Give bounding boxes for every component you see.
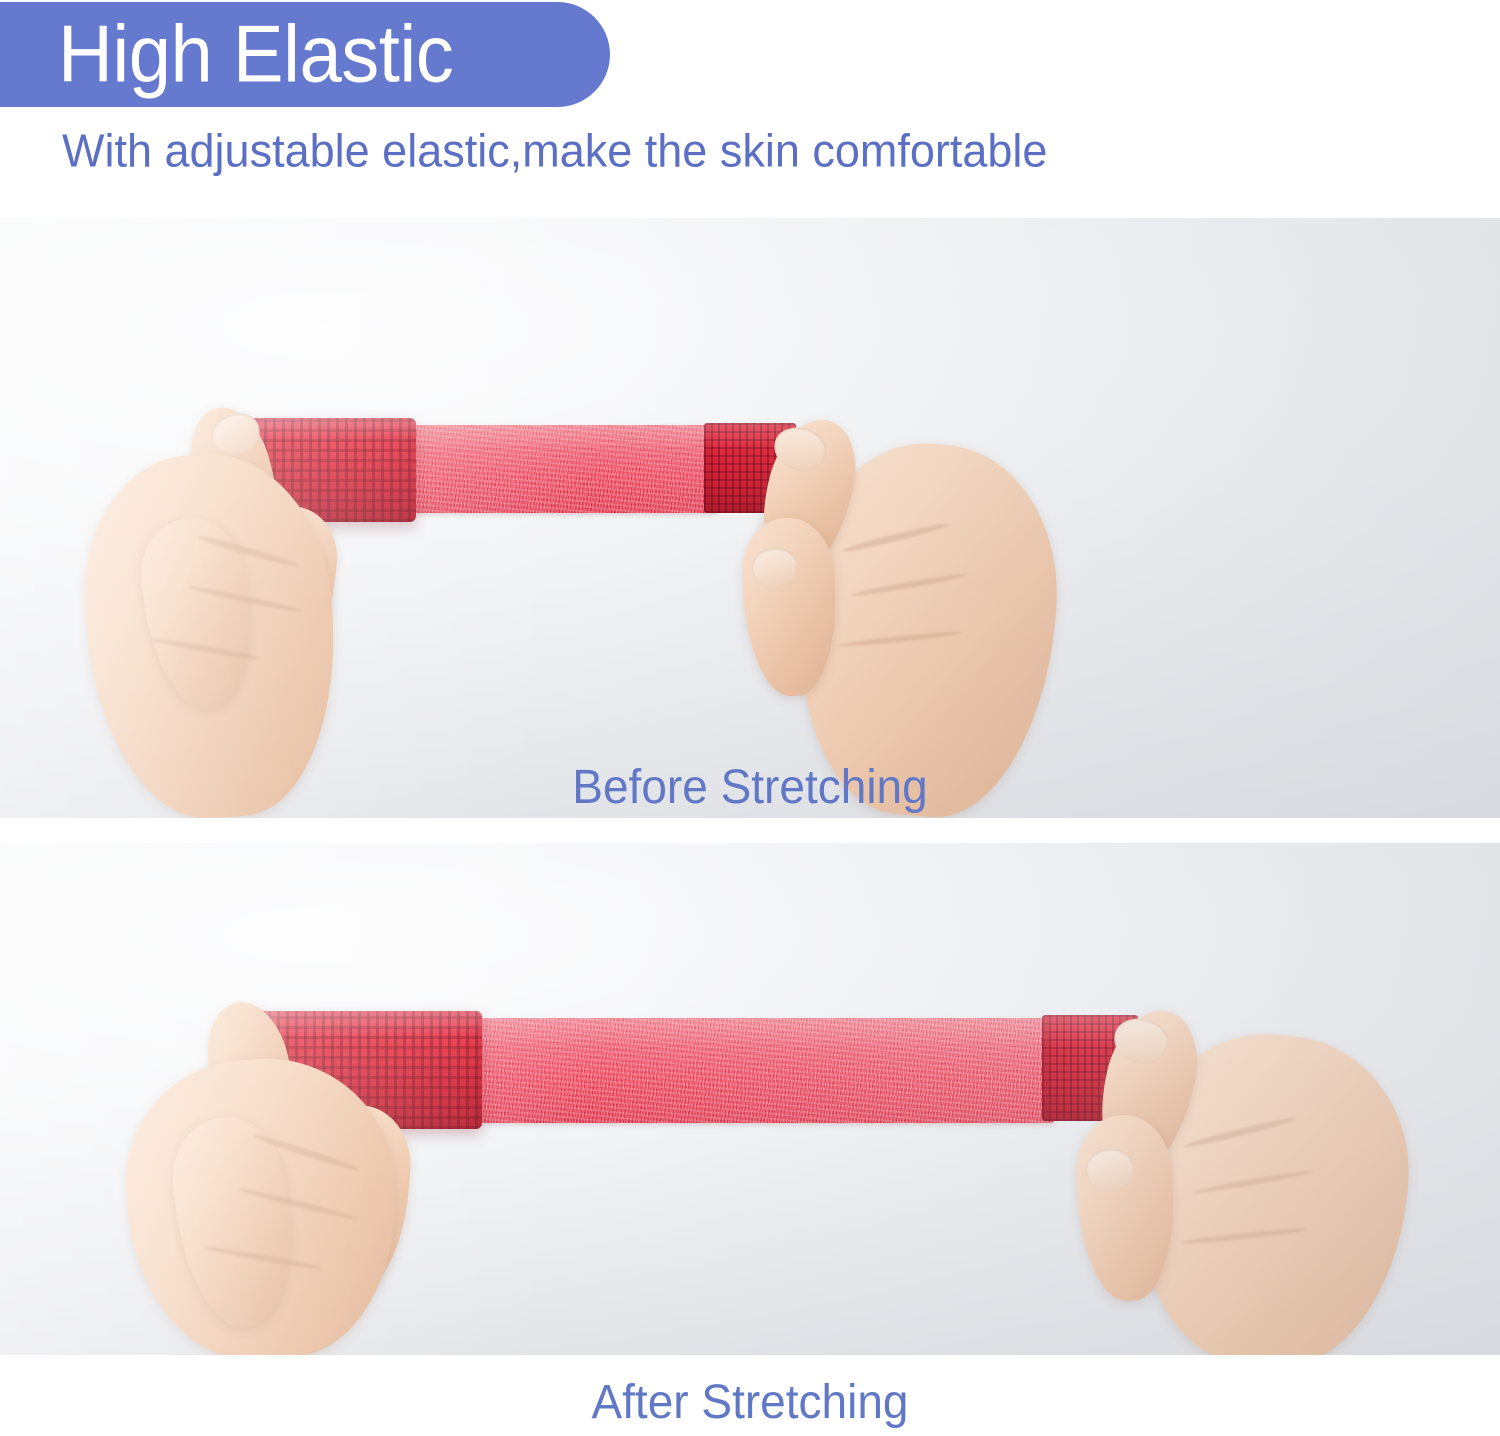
product-photo-after <box>0 843 1500 1355</box>
header: High Elastic With adjustable elastic,mak… <box>0 0 1500 218</box>
caption-after-stretching: After Stretching <box>0 1377 1500 1425</box>
caption-before-stretching: Before Stretching <box>0 762 1500 810</box>
bandage-strip-stretched <box>468 1018 1054 1123</box>
page-title: High Elastic <box>58 14 453 95</box>
product-photo-before <box>0 218 1500 818</box>
subtitle-text: With adjustable elastic,make the skin co… <box>62 127 1047 174</box>
photo-panel-after <box>0 843 1500 1355</box>
bandage-strip-stretched <box>398 425 718 513</box>
photo-panel-before <box>0 218 1500 818</box>
title-badge: High Elastic <box>0 2 610 107</box>
